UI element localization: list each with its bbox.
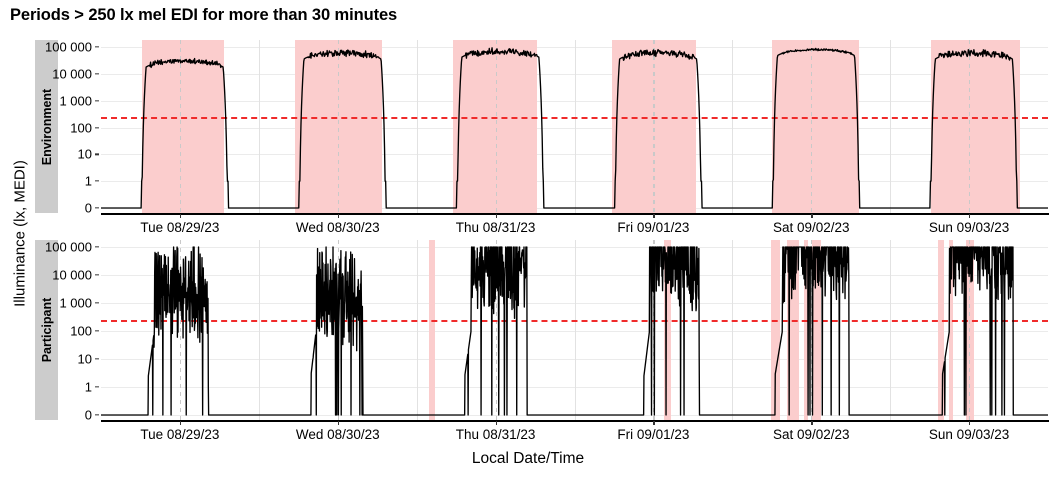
x-tick-mark [653,214,654,218]
x-tick-label: Wed 08/30/23 [296,220,380,235]
x-tick-mark [338,214,339,218]
y-tick-label: 1 000 [0,296,92,311]
y-tick-mark [95,127,99,128]
panel-participant [101,240,1048,420]
y-tick-label: 1 000 [0,93,92,108]
x-tick-label: Wed 08/30/23 [296,427,380,442]
participant-trace [101,240,1048,420]
panel-axis-line [101,420,1049,422]
x-tick-mark [969,214,970,218]
y-tick-label: 1 [0,174,92,189]
y-tick-label: 100 000 [0,40,92,55]
y-tick-label: 100 [0,324,92,339]
x-tick-mark [338,421,339,425]
x-tick-mark [496,214,497,218]
y-tick-label: 0 [0,408,92,423]
chart-title: Periods > 250 lx mel EDI for more than 3… [10,6,397,25]
y-tick-mark [95,358,99,359]
x-tick-label: Sun 09/03/23 [929,427,1009,442]
y-tick-mark [95,246,99,247]
panel-axis-line [101,213,1049,215]
y-tick-mark [95,386,99,387]
y-tick-label: 10 000 [0,66,92,81]
y-tick-mark [95,181,99,182]
environment-trace [101,40,1048,213]
y-tick-label: 10 [0,352,92,367]
y-tick-label: 10 000 [0,268,92,283]
x-tick-label: Sun 09/03/23 [929,220,1009,235]
panel-environment [101,40,1048,213]
y-tick-label: 10 [0,147,92,162]
y-tick-label: 0 [0,201,92,216]
x-tick-mark [969,421,970,425]
y-tick-label: 100 000 [0,240,92,255]
x-tick-label: Sat 09/02/23 [773,427,850,442]
x-tick-label: Thu 08/31/23 [456,427,536,442]
y-tick-mark [95,207,99,208]
x-tick-label: Tue 08/29/23 [140,220,219,235]
x-tick-mark [180,214,181,218]
y-tick-mark [95,154,99,155]
y-tick-label: 100 [0,120,92,135]
y-tick-mark [95,302,99,303]
x-tick-mark [811,214,812,218]
x-tick-mark [180,421,181,425]
y-tick-mark [95,100,99,101]
x-tick-label: Sat 09/02/23 [773,220,850,235]
x-tick-label: Fri 09/01/23 [617,427,689,442]
x-tick-label: Fri 09/01/23 [617,220,689,235]
y-tick-mark [95,73,99,74]
x-tick-mark [811,421,812,425]
y-tick-mark [95,274,99,275]
y-tick-label: 1 [0,380,92,395]
x-tick-label: Tue 08/29/23 [140,427,219,442]
y-tick-mark [95,330,99,331]
x-axis-title: Local Date/Time [0,450,1056,468]
y-tick-mark [95,414,99,415]
x-tick-mark [653,421,654,425]
chart-root: Periods > 250 lx mel EDI for more than 3… [0,0,1056,480]
x-tick-mark [496,421,497,425]
y-tick-mark [95,46,99,47]
x-tick-label: Thu 08/31/23 [456,220,536,235]
